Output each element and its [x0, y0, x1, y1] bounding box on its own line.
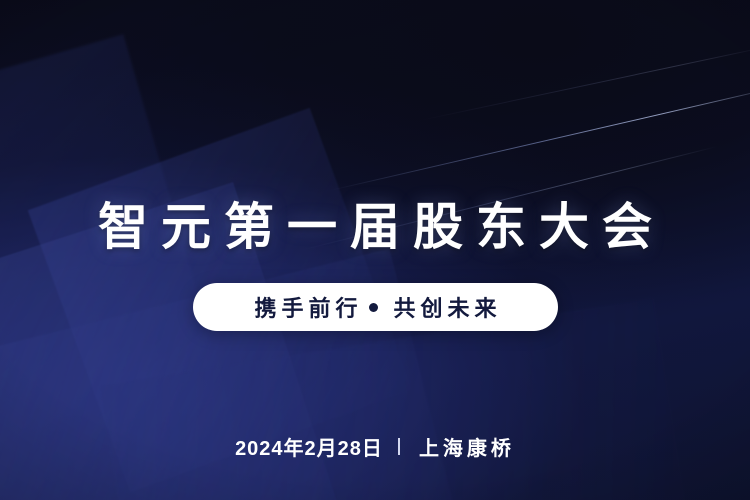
slogan-dot-icon	[369, 303, 378, 312]
poster-title: 智元第一届股东大会	[0, 196, 750, 258]
poster-content: 智元第一届股东大会 携手前行 共创未来 2024年2月28日 上海康桥	[0, 0, 750, 500]
event-date: 2024年2月28日	[235, 432, 383, 461]
poster-footer: 2024年2月28日 上海康桥	[0, 432, 750, 461]
footer-separator-icon	[398, 438, 400, 455]
slogan-pill: 携手前行 共创未来	[193, 283, 558, 331]
event-venue: 上海康桥	[415, 432, 515, 461]
event-poster: 智元第一届股东大会 携手前行 共创未来 2024年2月28日 上海康桥	[0, 0, 750, 500]
slogan-right: 共创未来	[389, 291, 502, 323]
slogan-text: 携手前行 共创未来	[249, 291, 501, 323]
slogan-left: 携手前行	[249, 291, 362, 323]
